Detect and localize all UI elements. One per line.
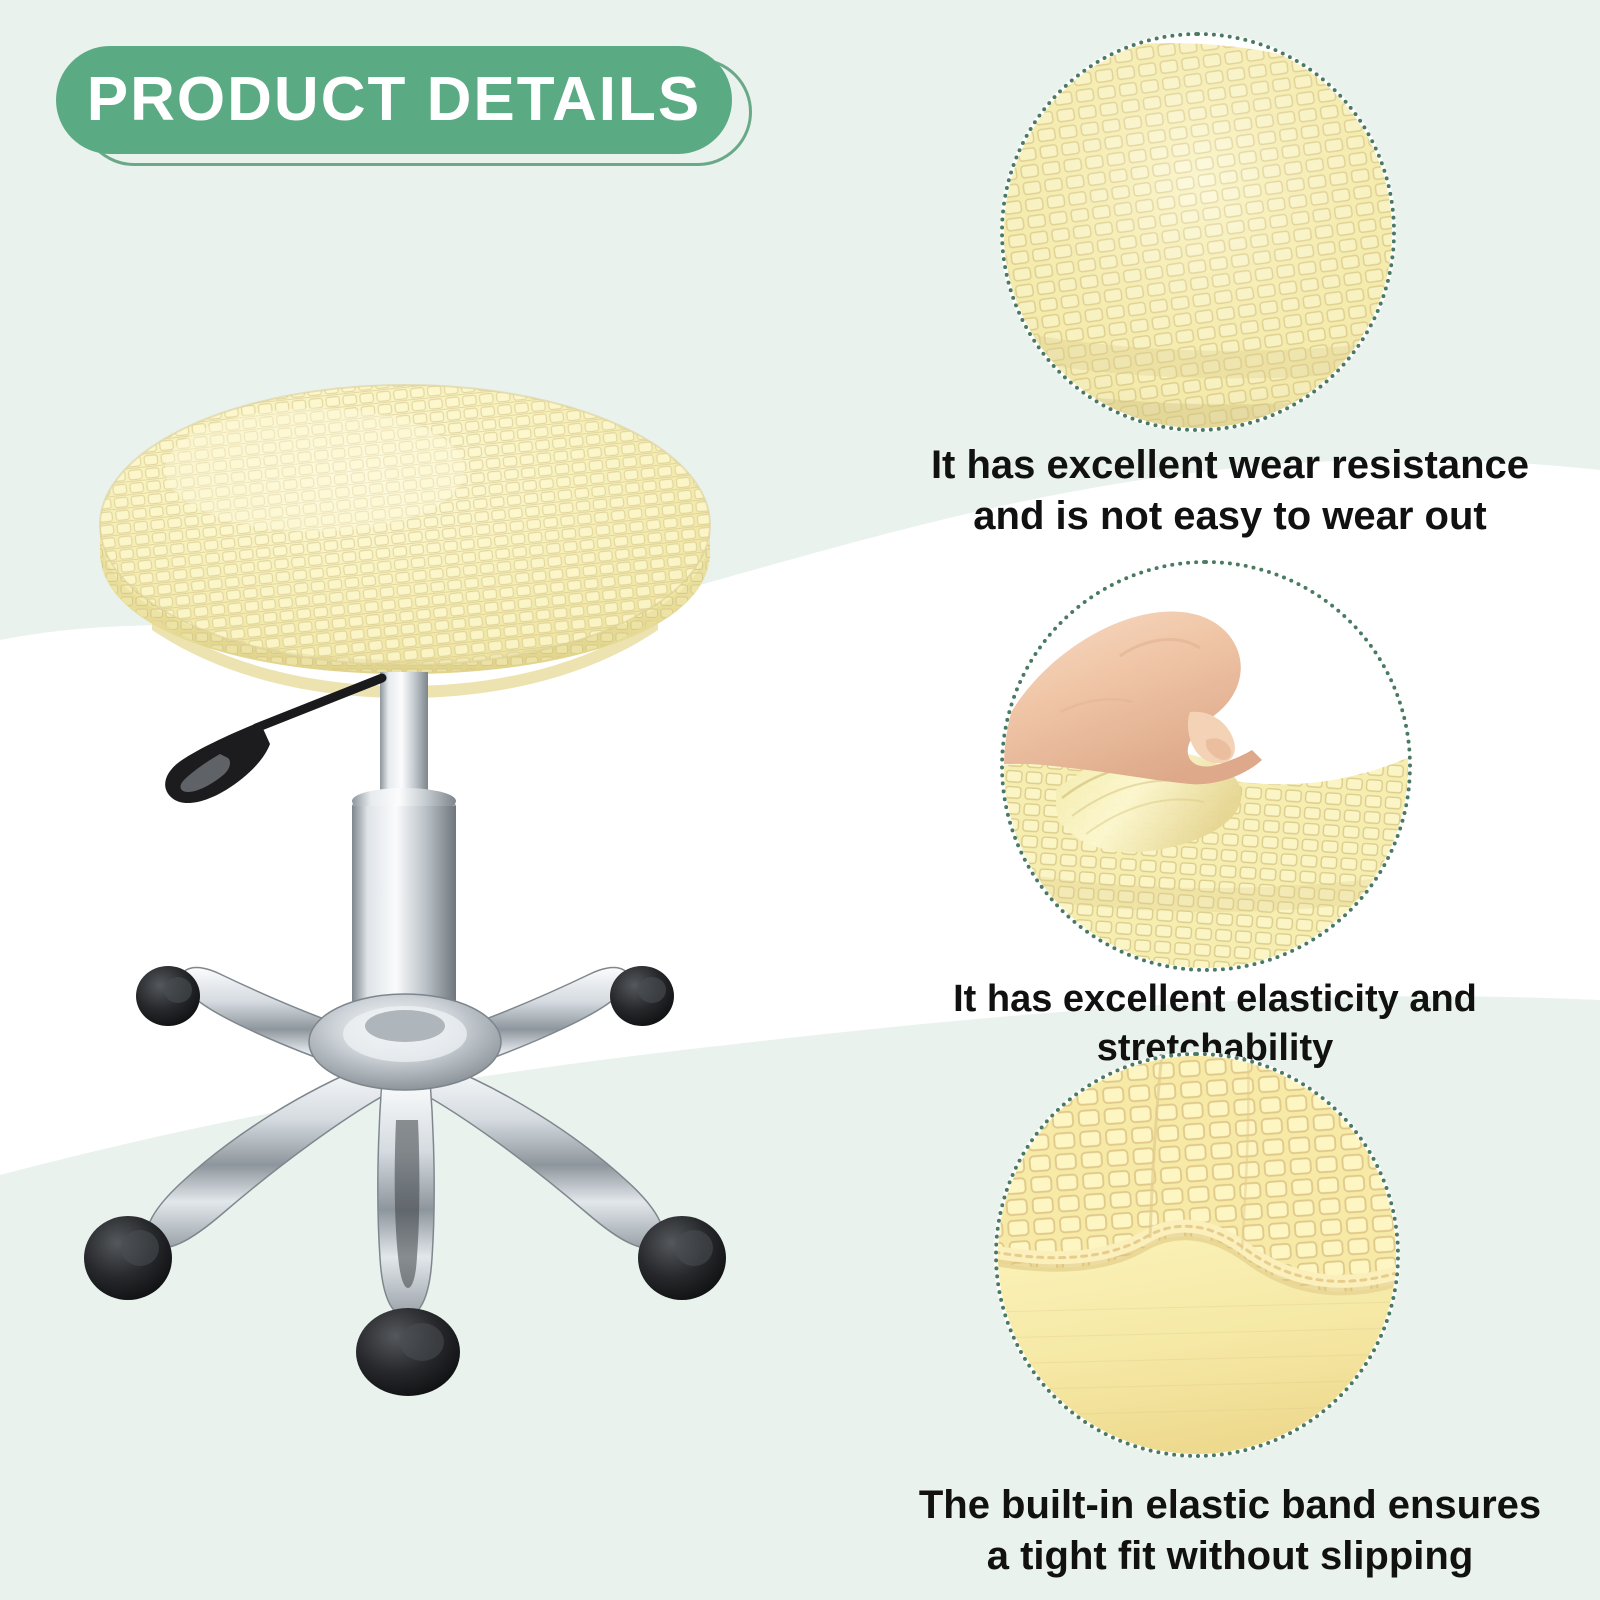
caster-wheel	[356, 1308, 460, 1396]
hand-stretching-fabric-photo	[1000, 560, 1412, 972]
product-details-page: PRODUCT DETAILS	[0, 0, 1600, 1600]
stool-seat-cover	[90, 375, 730, 698]
elastic-hem-macro	[994, 1052, 1400, 1458]
feature-caption-elastic-band: The built-in elastic band ensures a tigh…	[880, 1480, 1580, 1582]
page-title: PRODUCT DETAILS	[87, 69, 701, 131]
hand-pinch-fabric-macro	[1000, 560, 1412, 972]
stool-gas-lift	[352, 672, 456, 1043]
elastic-band-hem-photo	[994, 1052, 1400, 1458]
stool-illustration	[60, 320, 900, 1440]
elastic-band-hem-image	[994, 1052, 1400, 1458]
badge-pill: PRODUCT DETAILS	[56, 46, 732, 154]
caster-wheel	[610, 966, 674, 1026]
waffle-fabric-macro	[1000, 32, 1396, 432]
fabric-closeup-image	[1000, 32, 1396, 432]
page-title-badge: PRODUCT DETAILS	[46, 44, 762, 170]
fabric-closeup-photo	[1000, 32, 1396, 432]
caster-wheel	[136, 966, 200, 1026]
caster-wheel	[84, 1216, 172, 1300]
stool-product-image	[60, 320, 900, 1440]
stool-five-star-base	[147, 968, 663, 1316]
caster-wheel	[638, 1216, 726, 1300]
hand-stretching-fabric-image	[1000, 560, 1412, 972]
height-adjustment-lever[interactable]	[165, 678, 382, 803]
feature-caption-wear-resistance: It has excellent wear resistance and is …	[880, 440, 1580, 542]
